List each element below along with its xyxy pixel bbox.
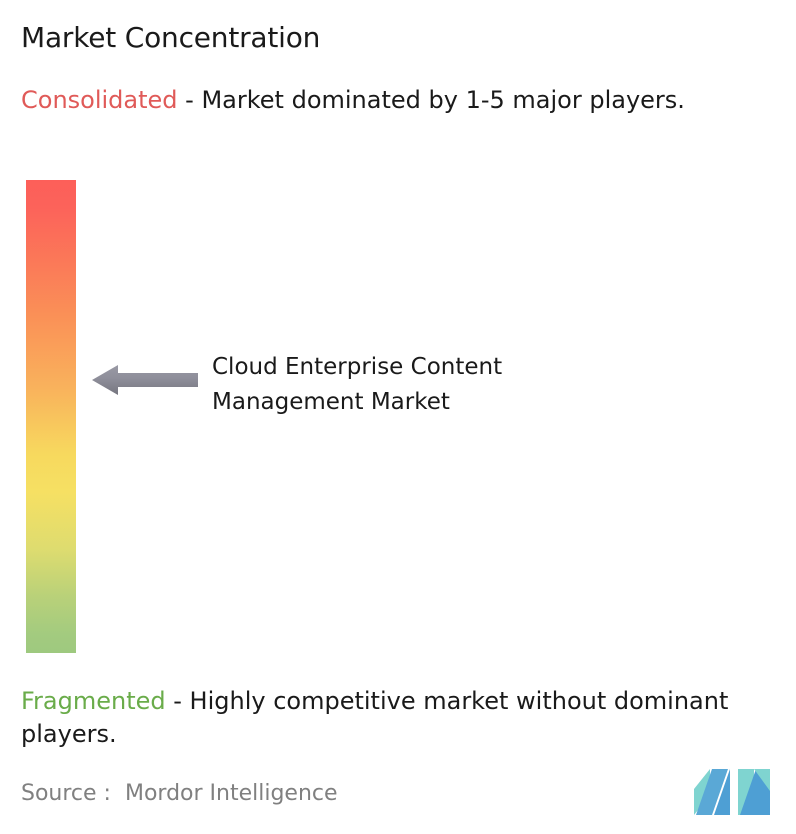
series-label-line2: Management Market	[212, 389, 450, 415]
left-arrow-icon	[92, 362, 198, 398]
source-value: Mordor Intelligence	[125, 781, 338, 806]
fragmented-legend: Fragmented - Highly competitive market w…	[21, 685, 791, 751]
market-concentration-gradient-bar	[26, 180, 76, 653]
consolidated-legend: Consolidated - Market dominated by 1-5 m…	[21, 84, 766, 117]
mordor-intelligence-logo	[694, 769, 770, 815]
consolidated-term: Consolidated	[21, 86, 178, 114]
page-title: Market Concentration	[21, 21, 320, 55]
fragmented-term: Fragmented	[21, 687, 166, 715]
source-attribution: Source : Mordor Intelligence	[21, 780, 338, 808]
series-label-line1: Cloud Enterprise Content	[212, 354, 502, 380]
source-label: Source :	[21, 781, 111, 806]
series-label: Cloud Enterprise ContentManagement Marke…	[212, 350, 632, 420]
consolidated-description: - Market dominated by 1-5 major players.	[178, 86, 685, 114]
